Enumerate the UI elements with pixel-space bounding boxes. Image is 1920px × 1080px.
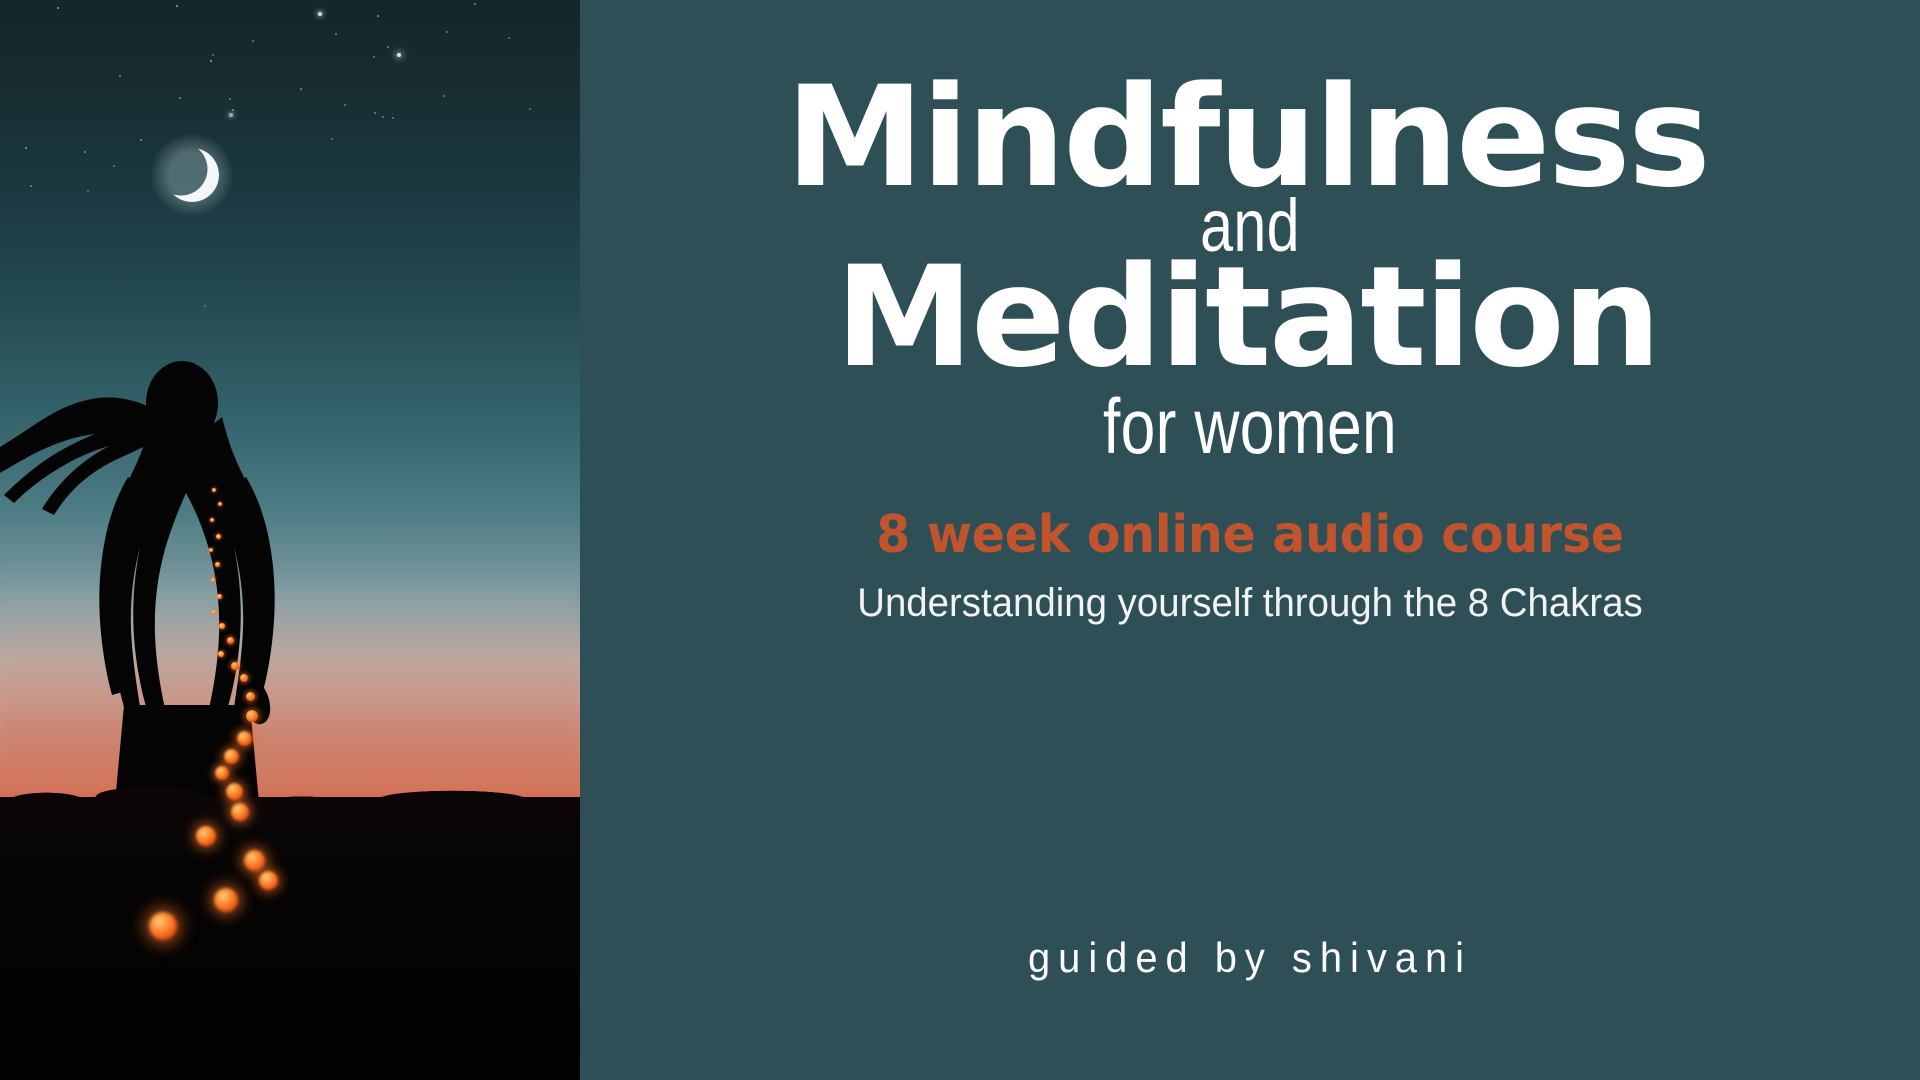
star bbox=[474, 3, 476, 5]
star bbox=[387, 46, 389, 48]
star bbox=[529, 108, 531, 110]
star bbox=[392, 117, 394, 119]
content-panel: Mindfulness and Meditation for women 8 w… bbox=[580, 0, 1920, 1080]
glowing-orb bbox=[215, 562, 220, 567]
glowing-orb bbox=[259, 871, 278, 890]
glowing-orb bbox=[219, 623, 225, 629]
star bbox=[397, 53, 401, 57]
star bbox=[229, 98, 231, 100]
star bbox=[382, 116, 384, 118]
star bbox=[229, 113, 232, 116]
star bbox=[57, 7, 59, 9]
glowing-orb bbox=[214, 888, 238, 912]
star bbox=[179, 97, 181, 99]
star bbox=[318, 12, 321, 15]
glowing-orb bbox=[218, 502, 222, 506]
star bbox=[30, 185, 32, 187]
poster: Mindfulness and Meditation for women 8 w… bbox=[0, 0, 1920, 1080]
star bbox=[212, 54, 214, 56]
course-description: Understanding yourself through the 8 Cha… bbox=[607, 581, 1893, 626]
crescent-moon-icon bbox=[148, 130, 238, 220]
glowing-orb bbox=[237, 731, 252, 746]
glowing-orb bbox=[196, 826, 216, 846]
title-line-meditation: Meditation bbox=[574, 254, 1920, 382]
title-block: Mindfulness and Meditation for women 8 w… bbox=[580, 0, 1920, 626]
star bbox=[335, 33, 337, 35]
title-conjunction-and: and bbox=[714, 194, 1786, 258]
star bbox=[119, 75, 121, 77]
star bbox=[508, 37, 510, 39]
star bbox=[210, 60, 213, 63]
glowing-orb bbox=[209, 548, 213, 552]
glowing-orb bbox=[211, 578, 215, 582]
star bbox=[232, 109, 234, 111]
star bbox=[84, 151, 86, 153]
star bbox=[443, 95, 445, 97]
star bbox=[373, 56, 375, 58]
glowing-orb bbox=[224, 749, 239, 764]
glowing-orb bbox=[246, 710, 258, 722]
star bbox=[25, 147, 27, 149]
glowing-orb bbox=[210, 518, 214, 522]
star bbox=[300, 88, 302, 90]
star bbox=[331, 138, 333, 140]
star bbox=[252, 40, 254, 42]
title-audience-for-women: for women bbox=[714, 387, 1786, 465]
glowing-orb bbox=[212, 488, 216, 492]
star bbox=[140, 139, 142, 141]
star bbox=[113, 165, 115, 167]
guide-credit: guided by shivani bbox=[614, 934, 1887, 982]
star bbox=[87, 190, 89, 192]
star bbox=[344, 104, 346, 106]
title-line-mindfulness: Mindfulness bbox=[574, 74, 1920, 202]
glowing-orb bbox=[231, 803, 249, 821]
star bbox=[377, 15, 379, 17]
star bbox=[176, 5, 178, 7]
glowing-orb bbox=[244, 850, 265, 871]
hero-photo bbox=[0, 0, 580, 1080]
glowing-orb bbox=[246, 692, 255, 701]
glowing-orb bbox=[240, 674, 248, 682]
glowing-orb bbox=[226, 783, 243, 800]
foreground-ground bbox=[0, 799, 580, 1080]
woman-silhouette bbox=[0, 355, 360, 835]
course-format-label: 8 week online audio course bbox=[620, 505, 1880, 565]
star bbox=[446, 31, 448, 33]
glowing-orb bbox=[212, 610, 216, 614]
glowing-orb bbox=[227, 637, 234, 644]
glowing-orb bbox=[231, 662, 239, 670]
glowing-orb bbox=[149, 912, 177, 940]
star bbox=[204, 305, 206, 307]
glowing-orb bbox=[218, 651, 224, 657]
glowing-orb bbox=[215, 766, 229, 780]
glowing-orb bbox=[216, 534, 221, 539]
star bbox=[374, 112, 376, 114]
glowing-orb bbox=[217, 594, 222, 599]
